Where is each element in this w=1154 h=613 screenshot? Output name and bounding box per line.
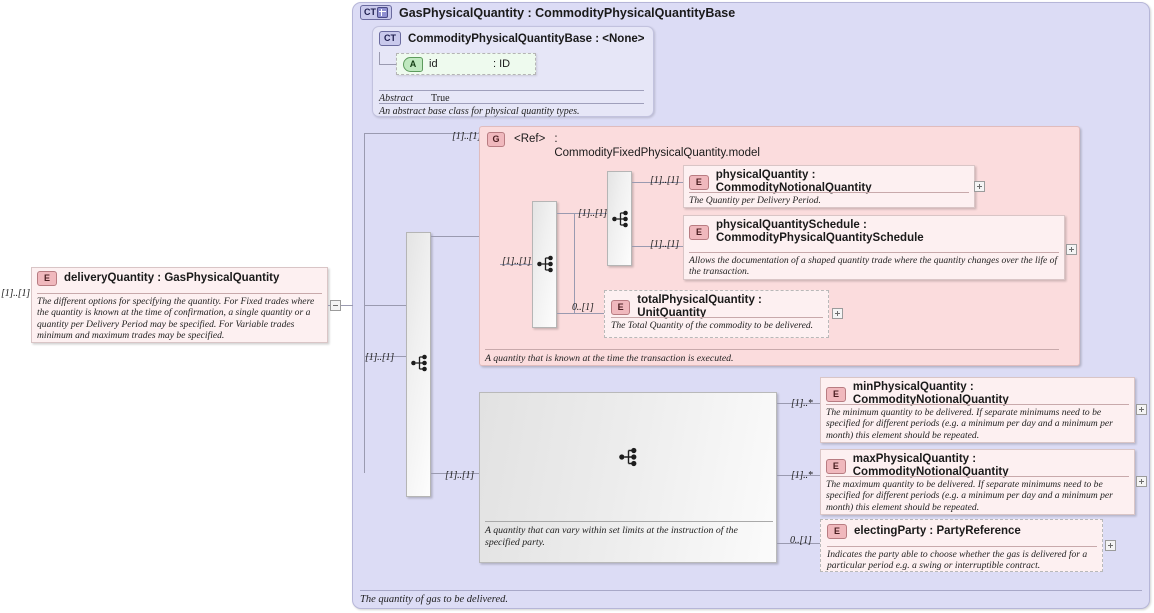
connector-line	[364, 133, 365, 473]
element-doc-electingparty: Indicates the party able to choose wheth…	[827, 546, 1097, 572]
element-header-electingparty: E electingParty : PartyReference	[827, 524, 1099, 539]
complex-type-annotation: The quantity of gas to be delivered.	[360, 590, 1142, 605]
cardinality-total-physical-quantity: 0..[1]	[572, 302, 594, 313]
element-doc-minphysicalquantity: The minimum quantity to be delivered. If…	[826, 404, 1129, 441]
cardinality-to-fixed-group: [1]..[1]	[452, 131, 481, 142]
connector-line	[364, 305, 406, 306]
complex-type-title: GasPhysicalQuantity : CommodityPhysicalQ…	[399, 6, 735, 20]
cardinality-physicalquantity: [1]..[1]	[650, 175, 679, 186]
complex-type-badge[interactable]: CT	[379, 31, 401, 46]
group-ref-title: : CommodityFixedPhysicalQuantity.model	[554, 132, 759, 160]
cardinality-minphysicalquantity: [1]..*	[791, 398, 813, 409]
attribute-row-id[interactable]: A id : ID	[396, 53, 536, 75]
cardinality-to-variable-group: [1]..[1]	[445, 470, 474, 481]
cardinality-maxphysicalquantity: [1]..*	[791, 470, 813, 481]
expand-toggle-physicalquantityschedule[interactable]	[1066, 244, 1077, 255]
element-header-physicalquantityschedule: E physicalQuantitySchedule : CommodityPh…	[689, 219, 1061, 245]
element-doc-physicalquantity: The Quantity per Delivery Period.	[689, 192, 969, 206]
base-type-title: CommodityPhysicalQuantityBase : <None>	[408, 33, 644, 45]
expand-toggle-totalphysicalquantity[interactable]	[832, 308, 843, 319]
element-badge: E	[689, 225, 709, 240]
expand-toggle-electingparty[interactable]	[1105, 540, 1116, 551]
attribute-badge: A	[403, 57, 423, 72]
element-header-deliveryquantity: E deliveryQuantity : GasPhysicalQuantity	[37, 271, 322, 286]
group-ref-annotation: A quantity that is known at the time the…	[485, 349, 1059, 364]
cardinality-inner-choice: [1]..[1]	[578, 208, 607, 219]
connector-line	[557, 313, 574, 314]
element-badge: E	[37, 271, 57, 286]
choice-glyph-icon	[411, 353, 428, 373]
complex-type-badge-label: CT	[364, 8, 376, 17]
choice-glyph-icon	[612, 209, 629, 229]
element-doc-physicalquantityschedule: Allows the documentation of a shaped qua…	[689, 252, 1059, 278]
attribute-connector-line	[379, 52, 380, 64]
connector-line	[574, 313, 605, 314]
cardinality-outer-bottom: [1]..[1]	[365, 352, 394, 363]
connector-line	[574, 213, 575, 313]
expand-toggle-maxphysicalquantity[interactable]	[1136, 476, 1147, 487]
cardinality-deliveryquantity: [1]..[1]	[1, 288, 30, 299]
group-badge: G	[487, 132, 505, 147]
xsd-diagram-canvas: CT GasPhysicalQuantity : CommodityPhysic…	[0, 0, 1154, 613]
base-type-annotation: An abstract base class for physical quan…	[379, 103, 644, 117]
expand-toggle-physicalquantity[interactable]	[974, 181, 985, 192]
variable-group-annotation: A quantity that can vary within set limi…	[485, 521, 773, 548]
group-ref-header: G <Ref> : CommodityFixedPhysicalQuantity…	[487, 132, 787, 160]
expand-toggle-minphysicalquantity[interactable]	[1136, 404, 1147, 415]
element-doc-maxphysicalquantity: The maximum quantity to be delivered. If…	[826, 476, 1129, 513]
complex-type-badge[interactable]: CT	[360, 5, 392, 20]
connector-line	[431, 236, 479, 237]
element-doc-totalphysicalquantity: The Total Quantity of the commodity to b…	[611, 317, 823, 331]
element-badge: E	[827, 524, 847, 539]
collapse-toggle-complextype[interactable]	[330, 300, 341, 311]
element-badge: E	[611, 300, 630, 315]
base-type-header: CT CommodityPhysicalQuantityBase : <None…	[379, 31, 644, 46]
expand-plus-icon[interactable]	[377, 7, 388, 18]
element-badge: E	[689, 175, 709, 190]
element-title-deliveryquantity: deliveryQuantity : GasPhysicalQuantity	[64, 272, 279, 285]
element-title-electingparty: electingParty : PartyReference	[854, 525, 1021, 538]
attribute-connector-line	[379, 64, 396, 65]
connector-line	[557, 213, 574, 214]
element-badge: E	[826, 459, 846, 474]
attribute-name: id	[429, 58, 487, 70]
abstract-property-row: Abstract True	[379, 90, 644, 104]
cardinality-physicalquantityschedule: [1]..[1]	[650, 239, 679, 250]
element-badge: E	[826, 387, 846, 402]
group-ref-label: <Ref>	[514, 132, 545, 146]
cardinality-electingparty: 0..[1]	[790, 535, 812, 546]
attribute-type: : ID	[493, 58, 510, 70]
sequence-glyph-icon	[619, 446, 638, 468]
connector-line	[341, 305, 353, 306]
complex-type-header: CT GasPhysicalQuantity : CommodityPhysic…	[360, 5, 735, 20]
element-title-physicalquantityschedule: physicalQuantitySchedule : CommodityPhys…	[716, 219, 1061, 245]
sequence-glyph-icon	[537, 254, 554, 274]
element-doc-deliveryquantity: The different options for specifying the…	[37, 293, 322, 342]
cardinality-fixed-seq: [1]..[1]	[502, 256, 531, 267]
